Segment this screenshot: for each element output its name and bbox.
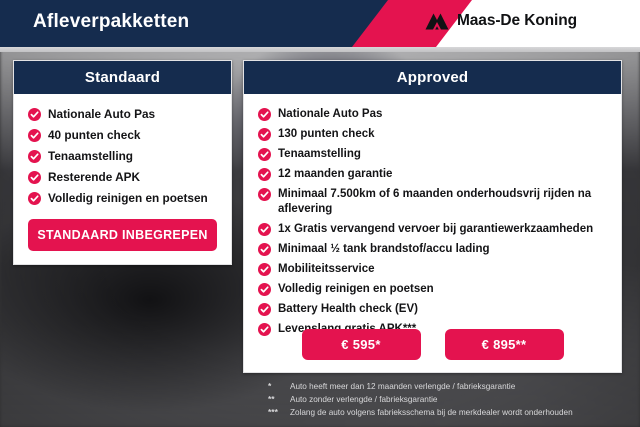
price-button[interactable]: € 895** (445, 329, 564, 360)
feature-label: Tenaamstelling (278, 147, 361, 162)
approved-card-title: Approved (397, 69, 469, 86)
approved-card-header: Approved (244, 61, 621, 94)
footnote-text: Auto heeft meer dan 12 maanden verlengde… (290, 381, 515, 392)
feature-label: 1x Gratis vervangend vervoer bij garanti… (278, 222, 593, 237)
footnote-marker: ** (268, 394, 290, 405)
feature-label: Nationale Auto Pas (278, 107, 382, 122)
page-header: Afleverpakketten Maas-De Koning (0, 0, 640, 47)
feature-item: Tenaamstelling (14, 149, 231, 164)
feature-label: Volledig reinigen en poetsen (278, 282, 434, 297)
footnote-row: **Auto zonder verlengde / fabrieksgarant… (268, 394, 628, 405)
header-underline (0, 47, 640, 52)
approved-feature-list: Nationale Auto Pas130 punten checkTenaam… (244, 94, 621, 337)
feature-label: Nationale Auto Pas (48, 107, 155, 122)
check-circle-icon (28, 108, 41, 121)
feature-label: 40 punten check (48, 128, 140, 143)
footnote-row: *Auto heeft meer dan 12 maanden verlengd… (268, 381, 628, 392)
maas-de-koning-logo-icon (425, 13, 449, 30)
check-circle-icon (258, 148, 271, 161)
check-circle-icon (28, 192, 41, 205)
feature-item: Volledig reinigen en poetsen (14, 191, 231, 206)
check-circle-icon (258, 243, 271, 256)
feature-item: Resterende APK (14, 170, 231, 185)
check-circle-icon (258, 263, 271, 276)
feature-item: Mobiliteitsservice (244, 262, 621, 277)
footnote-marker: * (268, 381, 290, 392)
check-circle-icon (28, 129, 41, 142)
feature-item: Minimaal ½ tank brandstof/accu lading (244, 242, 621, 257)
check-circle-icon (258, 128, 271, 141)
footnotes: *Auto heeft meer dan 12 maanden verlengd… (268, 381, 628, 420)
price-button[interactable]: € 595* (302, 329, 421, 360)
check-circle-icon (258, 283, 271, 296)
standard-card-title: Standaard (85, 69, 160, 86)
check-circle-icon (258, 303, 271, 316)
footnote-text: Auto zonder verlengde / fabrieksgarantie (290, 394, 437, 405)
footnote-text: Zolang de auto volgens fabrieksschema bi… (290, 407, 573, 418)
feature-item: 40 punten check (14, 128, 231, 143)
feature-label: 12 maanden garantie (278, 167, 392, 182)
feature-item: 130 punten check (244, 127, 621, 142)
slide-root: Afleverpakketten Maas-De Koning Standaar… (0, 0, 640, 427)
feature-label: Minimaal 7.500km of 6 maanden onderhouds… (278, 187, 611, 217)
standard-package-card: Standaard Nationale Auto Pas40 punten ch… (13, 60, 232, 265)
standard-card-header: Standaard (14, 61, 231, 94)
feature-item: Tenaamstelling (244, 147, 621, 162)
approved-package-card: Approved Nationale Auto Pas130 punten ch… (243, 60, 622, 373)
check-circle-icon (258, 108, 271, 121)
feature-label: Mobiliteitsservice (278, 262, 375, 277)
brand-logo: Maas-De Koning (425, 12, 577, 30)
standard-cta-wrap: STANDAARD INBEGREPEN (28, 219, 217, 251)
feature-label: 130 punten check (278, 127, 375, 142)
feature-label: Minimaal ½ tank brandstof/accu lading (278, 242, 490, 257)
feature-item: 1x Gratis vervangend vervoer bij garanti… (244, 222, 621, 237)
check-circle-icon (28, 150, 41, 163)
feature-item: Minimaal 7.500km of 6 maanden onderhouds… (244, 187, 621, 217)
check-circle-icon (258, 168, 271, 181)
feature-item: Nationale Auto Pas (244, 107, 621, 122)
approved-price-row: € 595*€ 895** (244, 329, 621, 360)
footnote-row: ***Zolang de auto volgens fabrieksschema… (268, 407, 628, 418)
feature-item: Volledig reinigen en poetsen (244, 282, 621, 297)
feature-label: Resterende APK (48, 170, 140, 185)
feature-label: Battery Health check (EV) (278, 302, 418, 317)
footnote-marker: *** (268, 407, 290, 418)
feature-item: 12 maanden garantie (244, 167, 621, 182)
check-circle-icon (258, 223, 271, 236)
check-circle-icon (28, 171, 41, 184)
feature-item: Battery Health check (EV) (244, 302, 621, 317)
page-title: Afleverpakketten (33, 11, 189, 33)
standard-included-button[interactable]: STANDAARD INBEGREPEN (28, 219, 217, 251)
brand-name: Maas-De Koning (457, 12, 577, 30)
standard-feature-list: Nationale Auto Pas40 punten checkTenaams… (14, 94, 231, 206)
check-circle-icon (258, 188, 271, 201)
feature-item: Nationale Auto Pas (14, 107, 231, 122)
feature-label: Volledig reinigen en poetsen (48, 191, 208, 206)
feature-label: Tenaamstelling (48, 149, 133, 164)
